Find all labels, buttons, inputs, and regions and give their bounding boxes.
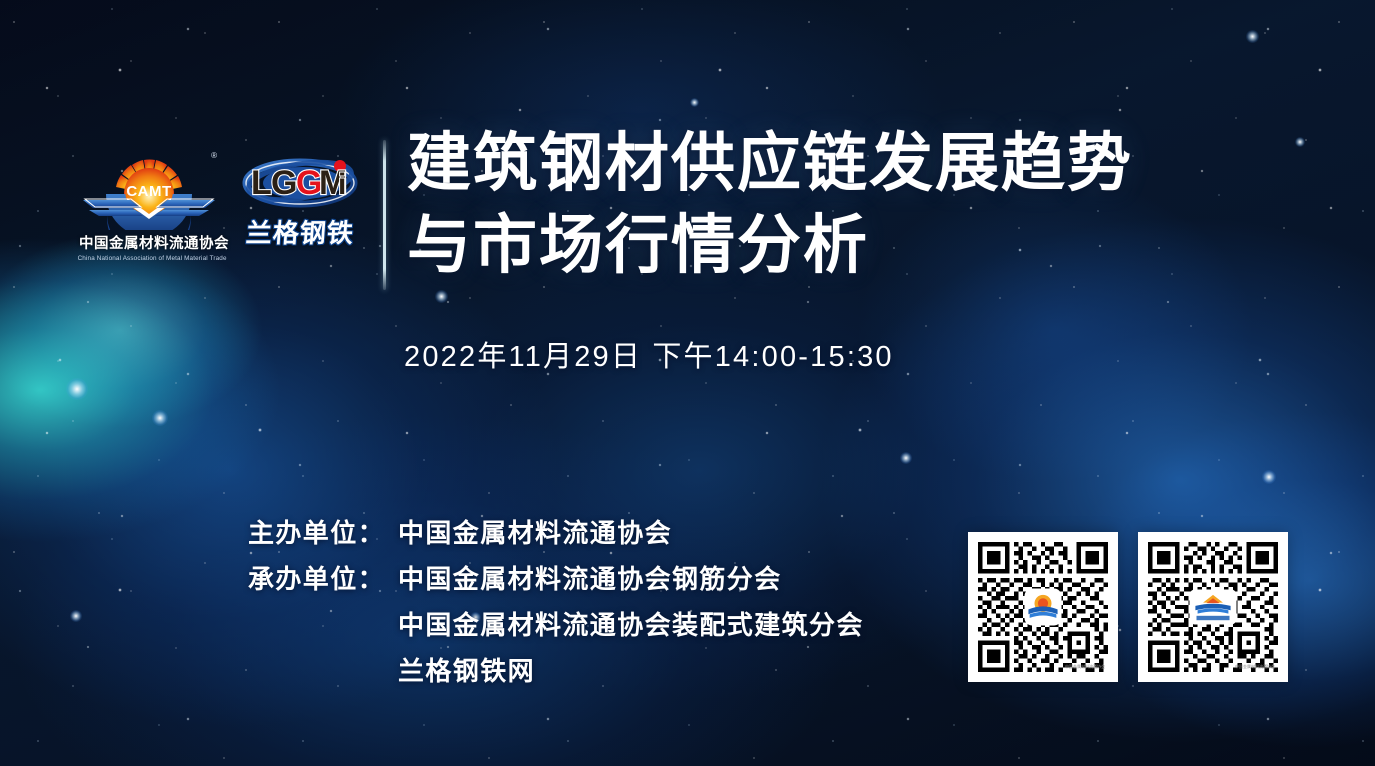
bright-star <box>1262 470 1276 484</box>
qr-code-association[interactable]: 中国金属材料流通协会 <box>1138 532 1288 682</box>
bright-star <box>435 290 448 303</box>
svg-text:G: G <box>271 164 296 202</box>
camt-association-icon <box>1191 591 1235 623</box>
organizer-value: 兰格钢铁网 <box>398 658 535 684</box>
lgmi-chinese-name: 兰格钢铁 <box>240 213 361 250</box>
page-title-line-2: 与市场行情分析 <box>407 212 1133 280</box>
logo-group: CAMT ® <box>0 130 383 262</box>
svg-text:CAMT: CAMT <box>126 183 171 200</box>
qr-code-camt[interactable]: 中国金属材料流通协会 <box>968 532 1118 682</box>
bright-star <box>690 98 699 107</box>
poster-canvas: CAMT ® <box>0 0 1375 766</box>
poster-header: CAMT ® <box>0 130 1375 280</box>
bright-star <box>152 410 168 426</box>
page-title-line-1: 建筑钢材供应链发展趋势 <box>407 130 1133 198</box>
camt-chinese-name: 中国金属材料流通协会 <box>79 232 219 253</box>
organizer-row: 中国金属材料流通协会装配式建筑分会 <box>248 612 864 638</box>
bright-star <box>1246 30 1259 43</box>
camt-sun-icon <box>1026 590 1060 624</box>
bright-star <box>66 378 88 400</box>
lgmi-logo: L G G M i 兰格钢铁 <box>241 144 359 250</box>
bright-star <box>70 610 82 622</box>
qr-watermark: 中国金属材料流通协会 <box>1065 664 1105 670</box>
svg-text:L: L <box>251 164 271 202</box>
svg-text:G: G <box>296 164 321 202</box>
registered-mark-icon: ® <box>211 152 217 160</box>
organizer-row: 兰格钢铁网 <box>248 658 864 684</box>
event-datetime: 2022年11月29日 下午14:00-15:30 <box>404 333 894 375</box>
lgmi-emblem-icon: L G G M i <box>241 150 359 212</box>
bright-star <box>900 452 912 464</box>
organizer-block: 主办单位： 中国金属材料流通协会 承办单位： 中国金属材料流通协会钢筋分会 中国… <box>248 520 864 684</box>
title-group: 建筑钢材供应链发展趋势 与市场行情分析 <box>383 130 1133 280</box>
camt-logo: CAMT ® <box>79 144 219 262</box>
organizer-value: 中国金属材料流通协会钢筋分会 <box>398 566 782 592</box>
qr-code-image: 中国金属材料流通协会 <box>1148 542 1278 672</box>
organizer-label: 承办单位： <box>248 566 398 592</box>
camt-emblem-icon: CAMT ® <box>79 144 219 230</box>
organizer-row: 承办单位： 中国金属材料流通协会钢筋分会 <box>248 566 864 592</box>
organizer-row: 主办单位： 中国金属材料流通协会 <box>248 520 864 546</box>
qr-code-image: 中国金属材料流通协会 <box>978 542 1108 672</box>
header-divider <box>383 140 386 290</box>
organizer-label: 主办单位： <box>248 520 398 546</box>
camt-english-name: China National Association of Metal Mate… <box>78 255 221 262</box>
svg-text:i: i <box>338 168 346 201</box>
qr-watermark: 中国金属材料流通协会 <box>1235 664 1275 670</box>
organizer-value: 中国金属材料流通协会 <box>398 520 672 546</box>
organizer-value: 中国金属材料流通协会装配式建筑分会 <box>398 612 864 638</box>
